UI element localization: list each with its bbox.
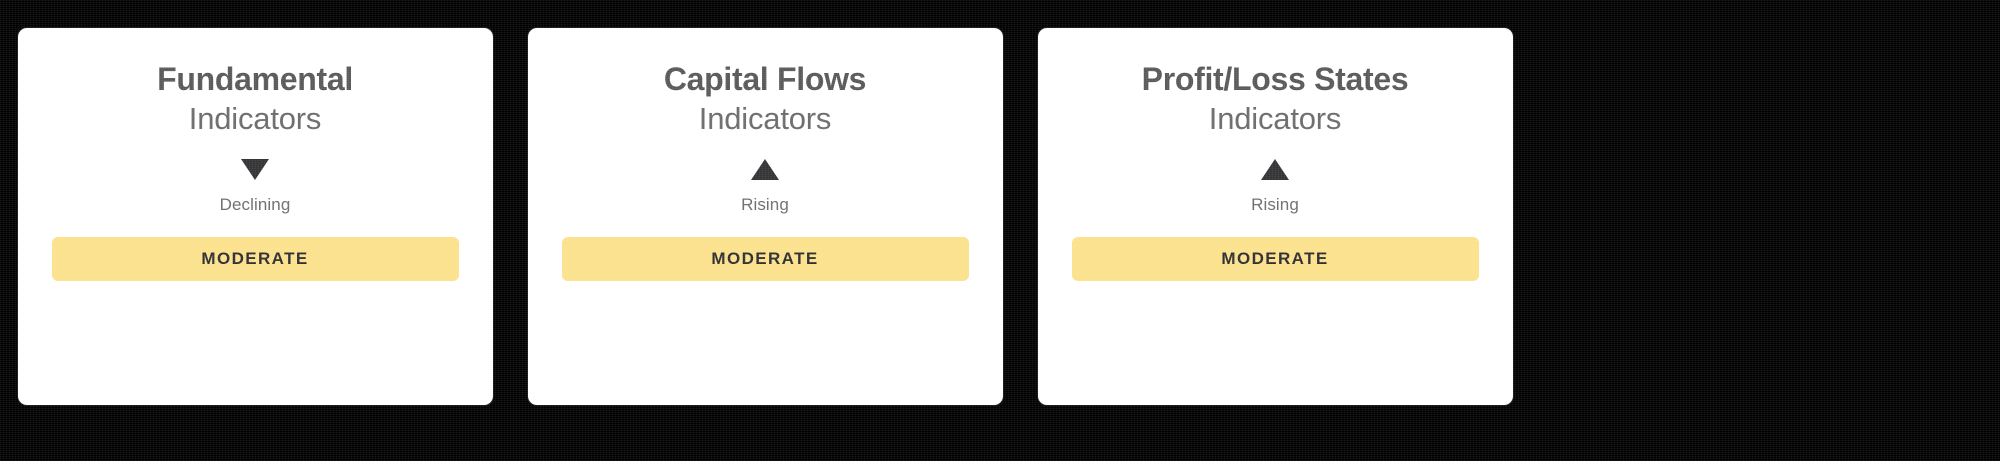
background-filler — [1568, 0, 2000, 461]
indicator-card-capital-flows[interactable]: Capital Flows Indicators Rising MODERATE — [528, 28, 1003, 405]
trend-arrow-wrap — [751, 157, 779, 181]
card-title: Fundamental — [157, 62, 353, 98]
status-badge[interactable]: MODERATE — [562, 237, 969, 281]
status-badge[interactable]: MODERATE — [1072, 237, 1479, 281]
indicator-card-profit-loss-states[interactable]: Profit/Loss States Indicators Rising MOD… — [1038, 28, 1513, 405]
trend-label: Rising — [1251, 195, 1299, 215]
trend-label: Rising — [741, 195, 789, 215]
triangle-up-icon — [751, 159, 779, 180]
card-slot-profit-loss-states: Profit/Loss States Indicators Rising MOD… — [1020, 0, 1530, 461]
triangle-up-icon — [1261, 159, 1289, 180]
indicator-cards-stage: Fundamental Indicators Declining MODERAT… — [0, 0, 2000, 461]
trend-arrow-wrap — [1261, 157, 1289, 181]
indicator-cards-row: Fundamental Indicators Declining MODERAT… — [0, 0, 1568, 461]
trend-label: Declining — [220, 195, 291, 215]
card-subtitle: Indicators — [189, 100, 321, 137]
card-slot-capital-flows: Capital Flows Indicators Rising MODERATE — [510, 0, 1020, 461]
card-subtitle: Indicators — [699, 100, 831, 137]
card-slot-fundamental: Fundamental Indicators Declining MODERAT… — [0, 0, 510, 461]
indicator-card-fundamental[interactable]: Fundamental Indicators Declining MODERAT… — [18, 28, 493, 405]
card-title: Capital Flows — [664, 62, 866, 98]
triangle-down-icon — [241, 159, 269, 180]
card-title: Profit/Loss States — [1142, 62, 1409, 98]
status-badge[interactable]: MODERATE — [52, 237, 459, 281]
trend-arrow-wrap — [241, 157, 269, 181]
card-subtitle: Indicators — [1209, 100, 1341, 137]
